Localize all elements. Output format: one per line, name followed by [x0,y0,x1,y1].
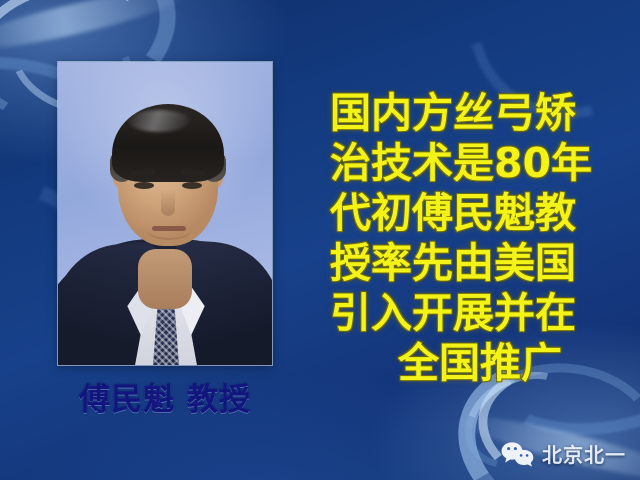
portrait-nose [161,190,175,216]
main-text-line-6: 全国推广 [330,338,630,388]
main-text-line-3: 代初傅民魁教 [330,188,630,238]
portrait-hair-highlight [128,110,190,132]
watermark-label: 北京北一 [542,439,626,468]
main-text-line-1: 国内方丝弓矫 [330,88,630,138]
portrait-photo [58,62,272,365]
watermark: 北京北一 [501,439,626,468]
portrait-eye-right [182,182,202,189]
portrait-neck [138,249,192,309]
portrait-mouth [152,226,186,231]
slide-canvas: 傅民魁 教授 国内方丝弓矫 治技术是80年 代初傅民魁教 授率先由美国 引入开展… [0,0,640,480]
main-text-block: 国内方丝弓矫 治技术是80年 代初傅民魁教 授率先由美国 引入开展并在 全国推广 [330,88,630,388]
swirl-band-top-left [0,0,190,59]
main-text-line-2: 治技术是80年 [330,138,630,188]
main-text-line-4: 授率先由美国 [330,238,630,288]
wechat-icon [501,441,535,467]
portrait-eye-left [134,182,154,189]
main-text-line-5: 引入开展并在 [330,288,630,338]
portrait-caption: 傅民魁 教授 [57,381,273,419]
